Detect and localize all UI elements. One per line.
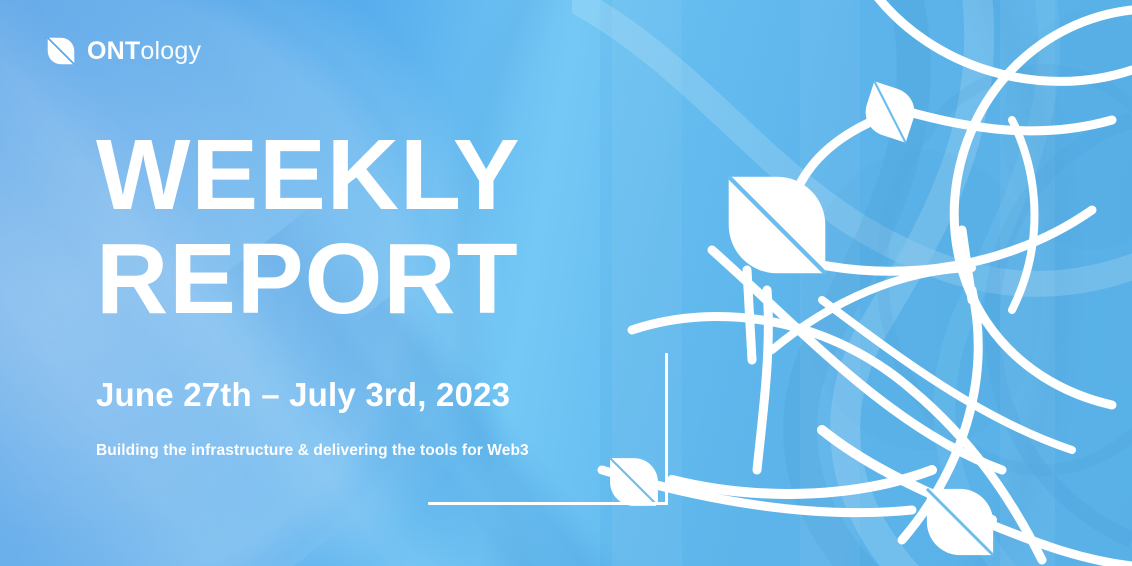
vertical-stripe-3: [1000, 0, 1055, 566]
title-line-1: WEEKLY: [96, 126, 521, 224]
vertical-stripe-2: [800, 0, 860, 566]
ontology-logo[interactable]: ONTology: [46, 36, 201, 66]
tagline: Building the infrastructure & delivering…: [96, 442, 529, 460]
page-title: WEEKLY REPORT: [96, 126, 521, 328]
bracket-vertical-rule: [665, 353, 668, 505]
ontology-leaf-icon: [46, 36, 76, 66]
wordmark-ont: ONT: [87, 37, 140, 65]
vertical-stripe-1: [612, 0, 682, 566]
weekly-report-banner: ONTology WEEKLY REPORT June 27th – July …: [0, 0, 1132, 566]
ontology-wordmark: ONTology: [87, 39, 201, 64]
bracket-horizontal-rule: [428, 502, 668, 505]
wordmark-ology: ology: [140, 37, 201, 65]
date-range: June 27th – July 3rd, 2023: [96, 376, 510, 414]
title-line-2: REPORT: [96, 230, 521, 328]
